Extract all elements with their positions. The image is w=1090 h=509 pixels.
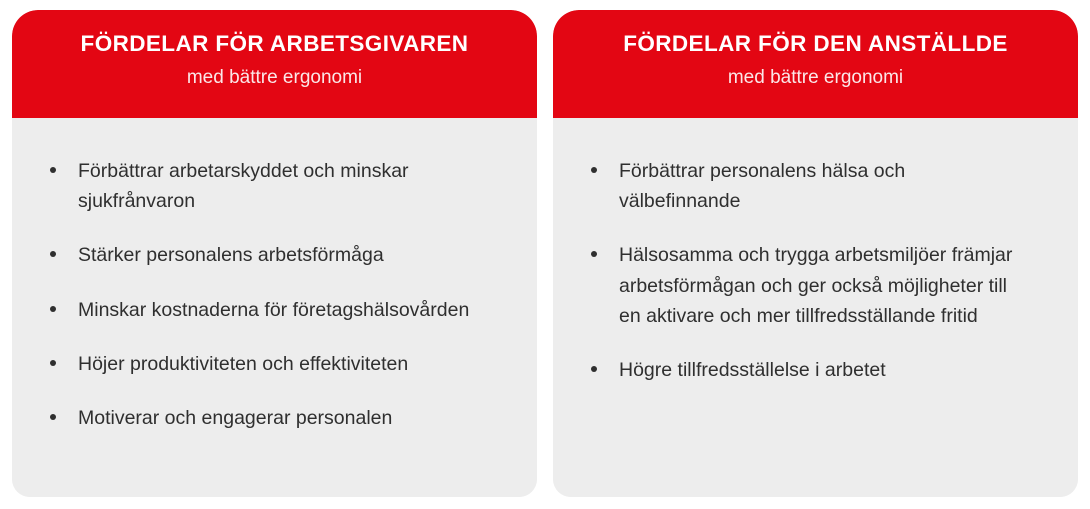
list-item: Minskar kostnaderna för företagshälsovår… xyxy=(50,295,513,325)
bullet-dot-icon xyxy=(50,167,56,173)
employee-card-header: FÖRDELAR FÖR DEN ANSTÄLLDE med bättre er… xyxy=(553,10,1078,118)
bullet-dot-icon xyxy=(50,414,56,420)
bullet-dot-icon xyxy=(591,366,597,372)
bullet-dot-icon xyxy=(50,251,56,257)
employer-card-title: FÖRDELAR FÖR ARBETSGIVAREN xyxy=(81,32,469,57)
list-item: Förbättrar personalens hälsa och välbefi… xyxy=(591,156,1054,216)
employee-benefits-card: FÖRDELAR FÖR DEN ANSTÄLLDE med bättre er… xyxy=(553,10,1078,497)
list-item-label: Stärker personalens arbetsförmåga xyxy=(78,240,498,270)
bullet-dot-icon xyxy=(591,251,597,257)
list-item: Förbättrar arbetarskyddet och minskar sj… xyxy=(50,156,513,216)
list-item-label: Förbättrar arbetarskyddet och minskar sj… xyxy=(78,156,498,216)
list-item-label: Hälsosamma och trygga arbetsmiljöer främ… xyxy=(619,240,1019,331)
benefits-comparison-board: FÖRDELAR FÖR ARBETSGIVAREN med bättre er… xyxy=(0,0,1090,509)
list-item-label: Minskar kostnaderna för företagshälsovår… xyxy=(78,295,498,325)
list-item-label: Motiverar och engagerar personalen xyxy=(78,403,498,433)
employer-benefits-card: FÖRDELAR FÖR ARBETSGIVAREN med bättre er… xyxy=(12,10,537,497)
bullet-dot-icon xyxy=(591,167,597,173)
list-item: Högre tillfredsställelse i arbetet xyxy=(591,355,1054,385)
bullet-dot-icon xyxy=(50,306,56,312)
list-item: Motiverar och engagerar personalen xyxy=(50,403,513,433)
list-item: Höjer produktiviteten och effektiviteten xyxy=(50,349,513,379)
employee-card-body: Förbättrar personalens hälsa och välbefi… xyxy=(553,118,1078,497)
employer-card-body: Förbättrar arbetarskyddet och minskar sj… xyxy=(12,118,537,497)
list-item-label: Förbättrar personalens hälsa och välbefi… xyxy=(619,156,1019,216)
employee-card-subtitle: med bättre ergonomi xyxy=(728,68,903,89)
list-item: Stärker personalens arbetsförmåga xyxy=(50,240,513,270)
list-item-label: Högre tillfredsställelse i arbetet xyxy=(619,355,1019,385)
list-item-label: Höjer produktiviteten och effektiviteten xyxy=(78,349,498,379)
list-item: Hälsosamma och trygga arbetsmiljöer främ… xyxy=(591,240,1054,331)
bullet-dot-icon xyxy=(50,360,56,366)
employer-card-subtitle: med bättre ergonomi xyxy=(187,68,362,89)
employer-benefits-list: Förbättrar arbetarskyddet och minskar sj… xyxy=(50,156,513,433)
employee-benefits-list: Förbättrar personalens hälsa och välbefi… xyxy=(591,156,1054,385)
employee-card-title: FÖRDELAR FÖR DEN ANSTÄLLDE xyxy=(623,32,1008,57)
employer-card-header: FÖRDELAR FÖR ARBETSGIVAREN med bättre er… xyxy=(12,10,537,118)
